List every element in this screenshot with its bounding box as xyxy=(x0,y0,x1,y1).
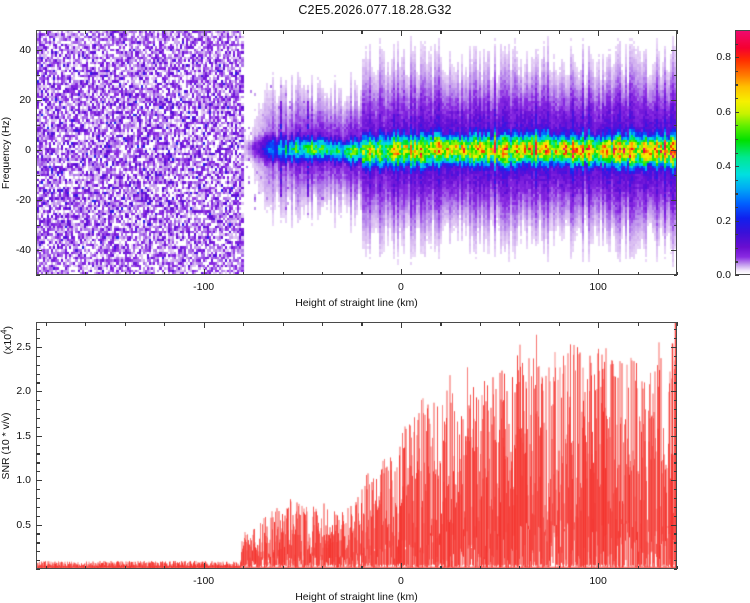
snr-y-tick xyxy=(674,516,678,517)
spectrogram-x-tick xyxy=(164,30,165,34)
snr-y-tick xyxy=(674,365,678,366)
spectrogram-y-tick xyxy=(36,275,40,276)
colorbar-tick xyxy=(735,166,739,167)
colorbar-minor-tick xyxy=(735,193,738,194)
spectrogram-x-tick xyxy=(559,272,560,276)
snr-x-tick xyxy=(401,322,402,328)
spectrogram-y-tick xyxy=(671,150,677,151)
snr-y-tick xyxy=(36,365,40,366)
colorbar-minor-tick xyxy=(735,248,738,249)
snr-x-tick xyxy=(164,322,165,326)
spectrogram-x-tick xyxy=(480,272,481,276)
snr-x-tick xyxy=(480,322,481,326)
spectrogram-y-tick xyxy=(36,200,42,201)
spectrogram-y-tick xyxy=(674,275,678,276)
snr-y-tick xyxy=(674,453,678,454)
snr-y-tick xyxy=(674,356,678,357)
spectrogram-x-tick xyxy=(243,30,244,34)
spectrogram-y-tick xyxy=(36,100,42,101)
colorbar-ticklabel: 0.0 xyxy=(709,269,731,281)
snr-y-tick xyxy=(36,409,40,410)
snr-x-tick xyxy=(204,563,205,569)
spectrogram-y-ticklabel: -20 xyxy=(8,194,31,206)
snr-x-tick xyxy=(164,566,165,570)
spectrogram-y-tick xyxy=(36,250,42,251)
spectrogram-x-tick xyxy=(164,272,165,276)
spectrogram-x-tick xyxy=(519,30,520,34)
spectrogram-x-tick xyxy=(598,30,599,36)
figure-root: C2E5.2026.077.18.28.G32 -100010040200-20… xyxy=(0,0,750,600)
snr-x-tick xyxy=(401,563,402,569)
spectrogram-y-tick xyxy=(674,225,678,226)
snr-y-tick xyxy=(674,329,678,330)
spectrogram-y-tick xyxy=(36,125,40,126)
spectrogram-x-tick xyxy=(243,272,244,276)
spectrogram-x-tick xyxy=(46,272,47,276)
snr-y-tick xyxy=(674,418,678,419)
snr-panel xyxy=(36,322,677,569)
colorbar-minor-tick xyxy=(735,71,738,72)
spectrogram-x-tick xyxy=(401,30,402,36)
snr-y-tick xyxy=(36,462,40,463)
snr-x-tick xyxy=(440,322,441,326)
spectrogram-y-tick xyxy=(671,50,677,51)
spectrogram-y-tick xyxy=(671,250,677,251)
spectrogram-x-tick xyxy=(677,30,678,34)
snr-y-tick xyxy=(671,391,677,392)
snr-x-tick xyxy=(243,322,244,326)
snr-y-tick xyxy=(36,453,40,454)
snr-x-tick xyxy=(204,322,205,328)
spectrogram-x-tick xyxy=(46,30,47,34)
spectrogram-y-axis-label: Frequency (Hz) xyxy=(0,116,12,188)
spectrogram-x-tick xyxy=(401,269,402,275)
snr-x-tick xyxy=(361,322,362,326)
spectrogram-x-tick xyxy=(204,269,205,275)
snr-trace xyxy=(37,323,677,569)
spectrogram-panel xyxy=(36,30,677,275)
snr-x-tick xyxy=(125,322,126,326)
snr-y-tick xyxy=(674,542,678,543)
colorbar-ticklabel: 0.4 xyxy=(709,160,731,172)
snr-y-ticklabel: 2.0 xyxy=(8,385,31,397)
colorbar-tick xyxy=(735,112,739,113)
snr-y-tick xyxy=(674,498,678,499)
spectrogram-x-tick xyxy=(519,272,520,276)
snr-x-tick xyxy=(598,563,599,569)
snr-y-tick xyxy=(36,480,42,481)
colorbar-ticklabel: 0.8 xyxy=(709,51,731,63)
spectrogram-y-tick xyxy=(36,75,40,76)
snr-y-tick xyxy=(36,329,40,330)
snr-y-tick xyxy=(674,445,678,446)
snr-y-tick xyxy=(674,427,678,428)
snr-y-tick xyxy=(36,489,40,490)
snr-y-tick xyxy=(36,551,40,552)
snr-y-axis-label: SNR (10 * v/v) xyxy=(0,412,12,479)
spectrogram-y-tick xyxy=(674,175,678,176)
spectrogram-y-tick xyxy=(36,50,42,51)
spectrogram-x-ticklabel: 100 xyxy=(589,281,607,293)
snr-x-axis-label: Height of straight line (km) xyxy=(295,591,418,603)
spectrogram-y-tick xyxy=(36,175,40,176)
snr-x-tick xyxy=(480,566,481,570)
snr-y-tick xyxy=(674,462,678,463)
snr-y-tick xyxy=(36,356,40,357)
snr-y-tick xyxy=(36,507,40,508)
snr-x-ticklabel: 0 xyxy=(398,575,404,587)
snr-y-tick xyxy=(36,391,42,392)
snr-y-tick xyxy=(36,338,40,339)
spectrogram-x-tick xyxy=(85,272,86,276)
spectrogram-x-tick xyxy=(322,272,323,276)
snr-x-tick xyxy=(283,566,284,570)
snr-y-tick xyxy=(36,498,40,499)
colorbar-ticklabel: 0.6 xyxy=(709,106,731,118)
colorbar-minor-tick xyxy=(735,153,738,154)
colorbar-minor-tick xyxy=(735,207,738,208)
colorbar-minor-tick xyxy=(735,125,738,126)
colorbar-tick xyxy=(735,221,739,222)
snr-x-tick xyxy=(559,566,560,570)
spectrogram-x-tick xyxy=(283,272,284,276)
snr-x-tick xyxy=(677,322,678,326)
snr-x-tick xyxy=(322,566,323,570)
snr-y-tick xyxy=(36,382,40,383)
spectrogram-x-tick xyxy=(125,30,126,34)
snr-x-tick xyxy=(440,566,441,570)
snr-y-tick xyxy=(674,400,678,401)
snr-y-tick xyxy=(36,569,40,570)
spectrogram-x-ticklabel: -100 xyxy=(193,281,214,293)
snr-y-tick xyxy=(36,533,40,534)
spectrogram-x-tick xyxy=(440,30,441,34)
spectrogram-x-tick xyxy=(638,30,639,34)
spectrogram-y-tick xyxy=(671,100,677,101)
snr-y-tick xyxy=(36,525,42,526)
snr-scale-label: (x104) xyxy=(0,326,14,354)
spectrogram-y-tick xyxy=(671,200,677,201)
spectrogram-y-ticklabel: -40 xyxy=(8,244,31,256)
spectrogram-x-tick xyxy=(440,272,441,276)
spectrogram-x-tick xyxy=(322,30,323,34)
page-title: C2E5.2026.077.18.28.G32 xyxy=(0,3,750,17)
snr-y-tick xyxy=(674,471,678,472)
snr-x-tick xyxy=(598,322,599,328)
snr-y-tick xyxy=(674,409,678,410)
spectrogram-x-tick xyxy=(85,30,86,34)
snr-y-tick xyxy=(36,471,40,472)
spectrogram-x-tick xyxy=(361,30,362,34)
snr-y-tick xyxy=(674,551,678,552)
snr-x-tick xyxy=(677,566,678,570)
colorbar-minor-tick xyxy=(735,139,738,140)
snr-y-tick xyxy=(36,418,40,419)
snr-x-tick xyxy=(559,322,560,326)
spectrogram-y-tick xyxy=(36,150,42,151)
colorbar-minor-tick xyxy=(735,98,738,99)
spectrogram-x-tick xyxy=(480,30,481,34)
snr-x-tick xyxy=(322,322,323,326)
snr-y-tick xyxy=(674,382,678,383)
colorbar-tick xyxy=(735,57,739,58)
snr-y-ticklabel: 0.5 xyxy=(8,519,31,531)
spectrogram-x-tick xyxy=(283,30,284,34)
colorbar-tick xyxy=(735,275,739,276)
snr-x-ticklabel: -100 xyxy=(193,575,214,587)
spectrogram-raster xyxy=(37,31,677,275)
snr-y-tick xyxy=(674,569,678,570)
spectrogram-x-ticklabel: 0 xyxy=(398,281,404,293)
colorbar-ticklabel: 0.2 xyxy=(709,215,731,227)
snr-x-tick xyxy=(46,566,47,570)
snr-x-tick xyxy=(361,566,362,570)
snr-y-tick xyxy=(36,427,40,428)
spectrogram-x-tick xyxy=(638,272,639,276)
snr-y-tick xyxy=(671,525,677,526)
colorbar-minor-tick xyxy=(735,261,738,262)
colorbar-minor-tick xyxy=(735,180,738,181)
snr-y-tick xyxy=(671,347,677,348)
snr-y-tick xyxy=(674,507,678,508)
snr-y-tick xyxy=(671,480,677,481)
spectrogram-y-tick xyxy=(674,125,678,126)
snr-x-tick xyxy=(638,566,639,570)
snr-y-tick xyxy=(674,489,678,490)
snr-y-tick xyxy=(671,436,677,437)
spectrogram-x-tick xyxy=(598,269,599,275)
spectrogram-y-ticklabel: 40 xyxy=(8,44,31,56)
snr-y-tick xyxy=(36,347,42,348)
snr-y-tick xyxy=(36,560,40,561)
spectrogram-y-tick xyxy=(36,225,40,226)
snr-x-tick xyxy=(125,566,126,570)
spectrogram-x-tick xyxy=(204,30,205,36)
spectrogram-x-axis-label: Height of straight line (km) xyxy=(295,297,418,309)
snr-x-tick xyxy=(46,322,47,326)
spectrogram-x-tick xyxy=(559,30,560,34)
spectrogram-x-tick xyxy=(125,272,126,276)
snr-x-tick xyxy=(519,322,520,326)
snr-y-tick xyxy=(36,542,40,543)
snr-y-tick xyxy=(36,516,40,517)
snr-x-tick xyxy=(638,322,639,326)
spectrogram-y-tick xyxy=(674,75,678,76)
spectrogram-x-tick xyxy=(361,272,362,276)
snr-y-tick xyxy=(674,560,678,561)
snr-x-tick xyxy=(243,566,244,570)
colorbar-minor-tick xyxy=(735,234,738,235)
snr-y-tick xyxy=(36,445,40,446)
snr-x-tick xyxy=(85,322,86,326)
snr-x-tick xyxy=(519,566,520,570)
snr-x-ticklabel: 100 xyxy=(589,575,607,587)
snr-y-tick xyxy=(36,436,42,437)
snr-y-tick xyxy=(674,533,678,534)
snr-y-tick xyxy=(674,374,678,375)
colorbar-minor-tick xyxy=(735,44,738,45)
snr-y-tick xyxy=(36,374,40,375)
snr-x-tick xyxy=(283,322,284,326)
spectrogram-x-tick xyxy=(677,272,678,276)
snr-y-tick xyxy=(674,338,678,339)
spectrogram-y-ticklabel: 20 xyxy=(8,94,31,106)
colorbar-minor-tick xyxy=(735,84,738,85)
snr-y-tick xyxy=(36,400,40,401)
snr-x-tick xyxy=(85,566,86,570)
